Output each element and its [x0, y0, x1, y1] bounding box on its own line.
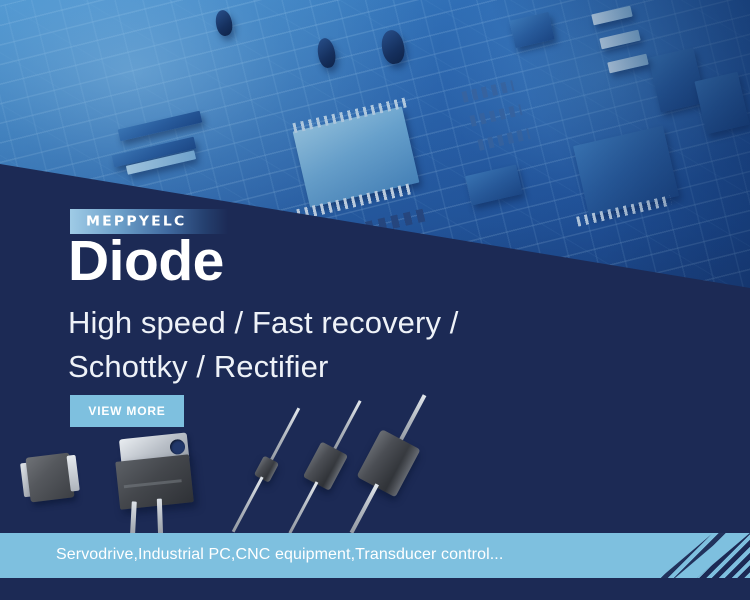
page-title: Diode	[68, 232, 224, 292]
footer-applications-text: Servodrive,Industrial PC,CNC equipment,T…	[56, 544, 503, 566]
page-subtitle: High speed / Fast recovery / Schottky / …	[68, 301, 458, 389]
subtitle-line-1: High speed / Fast recovery /	[68, 301, 458, 345]
brand-logo-text: MEPPYELC	[70, 214, 187, 229]
to-220-diode-package	[105, 432, 205, 541]
smd-diode-package	[19, 452, 80, 503]
product-banner: MEPPYELC Diode High speed / Fast recover…	[0, 0, 750, 600]
